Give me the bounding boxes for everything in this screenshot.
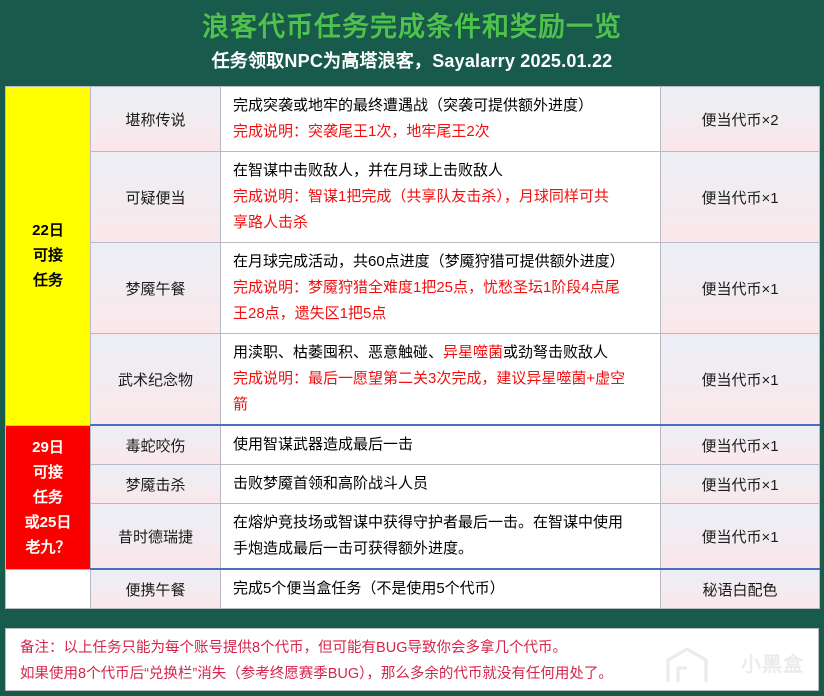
- period-line: 可接: [10, 243, 86, 268]
- period-line: 老九？: [10, 535, 86, 560]
- desc-line-1: 在月球完成活动，共60点进度（梦魇狩猎可提供额外进度）: [233, 249, 650, 275]
- quest-reward-cell: 便当代币×1: [661, 334, 820, 426]
- quest-name-cell: 梦魇击杀: [91, 465, 221, 504]
- desc-line-3: 王28点，遗失区1把5点: [233, 301, 650, 327]
- table-row: 梦魇午餐 在月球完成活动，共60点进度（梦魇狩猎可提供额外进度） 完成说明：梦魇…: [6, 243, 820, 334]
- period-line: 可接: [10, 460, 86, 485]
- quest-desc-cell: 用渎职、枯萎囤积、恶意触碰、异星噬菌或劲弩击败敌人 完成说明：最后一愿望第二关3…: [221, 334, 661, 426]
- desc-line-1: 使用智谋武器造成最后一击: [233, 432, 650, 458]
- quest-reward-cell: 便当代币×1: [661, 425, 820, 465]
- desc-line-2: 完成说明：突袭尾王1次，地牢尾王2次: [233, 119, 650, 145]
- quest-reward-cell: 便当代币×1: [661, 152, 820, 243]
- table-row: 可疑便当 在智谋中击败敌人，并在月球上击败敌人 完成说明：智谋1把完成（共享队友…: [6, 152, 820, 243]
- quest-table-container: 22日 可接 任务 堪称传说 完成突袭或地牢的最终遭遇战（突袭可提供额外进度） …: [5, 86, 819, 609]
- period-line: 22日: [10, 218, 86, 243]
- period-cell-group-2: [6, 569, 91, 609]
- desc-line-1-highlight: 异星噬菌: [443, 344, 503, 361]
- footer-note: 备注：以上任务只能为每个账号提供8个代币，但可能有BUG导致你会多拿几个代币。 …: [5, 628, 819, 691]
- page-title: 浪客代币任务完成条件和奖励一览: [0, 8, 824, 46]
- desc-line-1: 在熔炉竞技场或智谋中获得守护者最后一击。在智谋中使用: [233, 510, 650, 536]
- quest-reward-cell: 便当代币×1: [661, 504, 820, 570]
- desc-line-1: 完成突袭或地牢的最终遭遇战（突袭可提供额外进度）: [233, 93, 650, 119]
- quest-reward-cell: 便当代币×1: [661, 243, 820, 334]
- header: 浪客代币任务完成条件和奖励一览 任务领取NPC为高塔浪客，Sayalarry 2…: [0, 0, 824, 76]
- footer-note-line-1: 备注：以上任务只能为每个账号提供8个代币，但可能有BUG导致你会多拿几个代币。: [20, 635, 808, 661]
- period-line: 任务: [10, 485, 86, 510]
- period-cell-group-0: 22日 可接 任务: [6, 87, 91, 426]
- quest-desc-cell: 在智谋中击败敌人，并在月球上击败敌人 完成说明：智谋1把完成（共享队友击杀），月…: [221, 152, 661, 243]
- table-row: 昔时德瑞捷 在熔炉竞技场或智谋中获得守护者最后一击。在智谋中使用 手炮造成最后一…: [6, 504, 820, 570]
- desc-line-2: 完成说明：智谋1把完成（共享队友击杀），月球同样可共: [233, 184, 650, 210]
- quest-name-cell: 堪称传说: [91, 87, 221, 152]
- desc-line-1: 击败梦魇首领和高阶战斗人员: [233, 471, 650, 497]
- quest-name-cell: 便携午餐: [91, 569, 221, 609]
- period-line: 任务: [10, 268, 86, 293]
- quest-reward-cell: 便当代币×2: [661, 87, 820, 152]
- quest-desc-cell: 击败梦魇首领和高阶战斗人员: [221, 465, 661, 504]
- quest-desc-cell: 在熔炉竞技场或智谋中获得守护者最后一击。在智谋中使用 手炮造成最后一击可获得额外…: [221, 504, 661, 570]
- footer-note-line-2: 如果使用8个代币后“兑换栏”消失（参考终愿赛季BUG），那么多余的代币就没有任何…: [20, 661, 808, 687]
- desc-line-1-part-a: 用渎职、枯萎囤积、恶意触碰、: [233, 344, 443, 361]
- table-row: 29日 可接 任务 或25日 老九？ 毒蛇咬伤 使用智谋武器造成最后一击 便当代…: [6, 425, 820, 465]
- quest-reward-cell: 秘语白配色: [661, 569, 820, 609]
- period-cell-group-1: 29日 可接 任务 或25日 老九？: [6, 425, 91, 569]
- table-row: 武术纪念物 用渎职、枯萎囤积、恶意触碰、异星噬菌或劲弩击败敌人 完成说明：最后一…: [6, 334, 820, 426]
- quest-reward-cell: 便当代币×1: [661, 465, 820, 504]
- desc-line-1-part-b: 或劲弩击败敌人: [503, 344, 608, 361]
- quest-name-cell: 武术纪念物: [91, 334, 221, 426]
- desc-line-1: 用渎职、枯萎囤积、恶意触碰、异星噬菌或劲弩击败敌人: [233, 340, 650, 366]
- quest-name-cell: 梦魇午餐: [91, 243, 221, 334]
- desc-line-1: 完成5个便当盒任务（不是使用5个代币）: [233, 576, 650, 602]
- infographic-page: 浪客代币任务完成条件和奖励一览 任务领取NPC为高塔浪客，Sayalarry 2…: [0, 0, 824, 696]
- period-line: 29日: [10, 435, 86, 460]
- quest-name-cell: 昔时德瑞捷: [91, 504, 221, 570]
- quest-desc-cell: 在月球完成活动，共60点进度（梦魇狩猎可提供额外进度） 完成说明：梦魇狩猎全难度…: [221, 243, 661, 334]
- table-row: 便携午餐 完成5个便当盒任务（不是使用5个代币） 秘语白配色: [6, 569, 820, 609]
- quest-desc-cell: 完成5个便当盒任务（不是使用5个代币）: [221, 569, 661, 609]
- quest-table: 22日 可接 任务 堪称传说 完成突袭或地牢的最终遭遇战（突袭可提供额外进度） …: [5, 86, 820, 609]
- quest-desc-cell: 完成突袭或地牢的最终遭遇战（突袭可提供额外进度） 完成说明：突袭尾王1次，地牢尾…: [221, 87, 661, 152]
- desc-line-2: 完成说明：梦魇狩猎全难度1把25点，忧愁圣坛1阶段4点尾: [233, 275, 650, 301]
- quest-name-cell: 毒蛇咬伤: [91, 425, 221, 465]
- desc-line-2: 手炮造成最后一击可获得额外进度。: [233, 536, 650, 562]
- page-subtitle: 任务领取NPC为高塔浪客，Sayalarry 2025.01.22: [0, 46, 824, 76]
- table-row: 梦魇击杀 击败梦魇首领和高阶战斗人员 便当代币×1: [6, 465, 820, 504]
- quest-desc-cell: 使用智谋武器造成最后一击: [221, 425, 661, 465]
- desc-line-2: 完成说明：最后一愿望第二关3次完成，建议异星噬菌+虚空: [233, 366, 650, 392]
- table-row: 22日 可接 任务 堪称传说 完成突袭或地牢的最终遭遇战（突袭可提供额外进度） …: [6, 87, 820, 152]
- desc-line-3: 箭: [233, 392, 650, 418]
- desc-line-3: 享路人击杀: [233, 210, 650, 236]
- period-line: 或25日: [10, 510, 86, 535]
- quest-name-cell: 可疑便当: [91, 152, 221, 243]
- desc-line-1: 在智谋中击败敌人，并在月球上击败敌人: [233, 158, 650, 184]
